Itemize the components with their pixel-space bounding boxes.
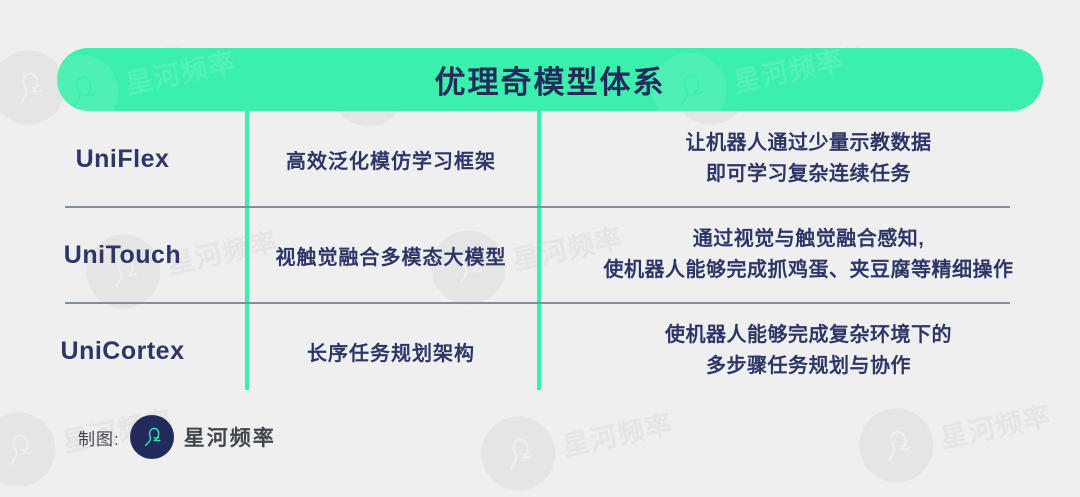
model-name: UniCortex [0,337,245,366]
footer-credit: 制图: 星河频率 [78,415,276,459]
description-line-2: 即可学习复杂连续任务 [706,159,911,190]
watermark-mark: 星河频率 [474,385,679,497]
watermark-text: 星河频率 [729,48,847,99]
model-description: 通过视觉与触觉融合感知, 使机器人能够完成抓鸡蛋、夹豆腐等精细操作 [537,224,1080,286]
description-line-2: 多步骤任务规划与协作 [706,351,911,382]
table-row: UniFlex 高效泛化模仿学习框架 让机器人通过少量示教数据 即可学习复杂连续… [0,111,1080,207]
table-row: UniTouch 视触觉融合多模态大模型 通过视觉与触觉融合感知, 使机器人能够… [0,207,1080,303]
model-name: UniFlex [0,145,245,174]
title-watermark-mark: 星河频率 [57,48,243,111]
watermark-text: 星河频率 [936,394,1054,455]
title-bar: 星河频率 星河频率 优理奇模型体系 [57,48,1043,111]
model-name: UniTouch [0,241,245,270]
infographic-root: 星河频率 星河频率 星河频率 [0,0,1080,497]
description-line-2: 使机器人能够完成抓鸡蛋、夹豆腐等精细操作 [604,255,1014,286]
description-line-1: 让机器人通过少量示教数据 [686,128,932,159]
description-line-1: 通过视觉与触觉融合感知, [693,224,925,255]
model-description: 让机器人通过少量示教数据 即可学习复杂连续任务 [537,128,1080,190]
page-title: 优理奇模型体系 [435,57,666,102]
model-subtitle: 长序任务规划架构 [245,337,537,366]
watermark-logo-icon [0,406,62,494]
brand-name: 星河频率 [184,422,276,452]
watermark-text: 星河频率 [121,48,239,101]
description-line-1: 使机器人能够完成复杂环境下的 [665,320,952,351]
model-description: 使机器人能够完成复杂环境下的 多步骤任务规划与协作 [537,320,1080,382]
table-row: UniCortex 长序任务规划架构 使机器人能够完成复杂环境下的 多步骤任务规… [0,303,1080,399]
model-subtitle: 高效泛化模仿学习框架 [245,145,537,174]
model-table: UniFlex 高效泛化模仿学习框架 让机器人通过少量示教数据 即可学习复杂连续… [0,111,1080,401]
watermark-text: 星河频率 [558,402,676,463]
face-profile-icon [130,415,174,459]
title-watermark-mark: 星河频率 [645,48,850,111]
watermark-logo-icon [852,402,940,490]
watermark-logo-icon [474,410,562,497]
watermark-logo-icon [57,48,125,111]
credit-label: 制图: [78,425,120,450]
model-subtitle: 视触觉融合多模态大模型 [245,241,537,270]
